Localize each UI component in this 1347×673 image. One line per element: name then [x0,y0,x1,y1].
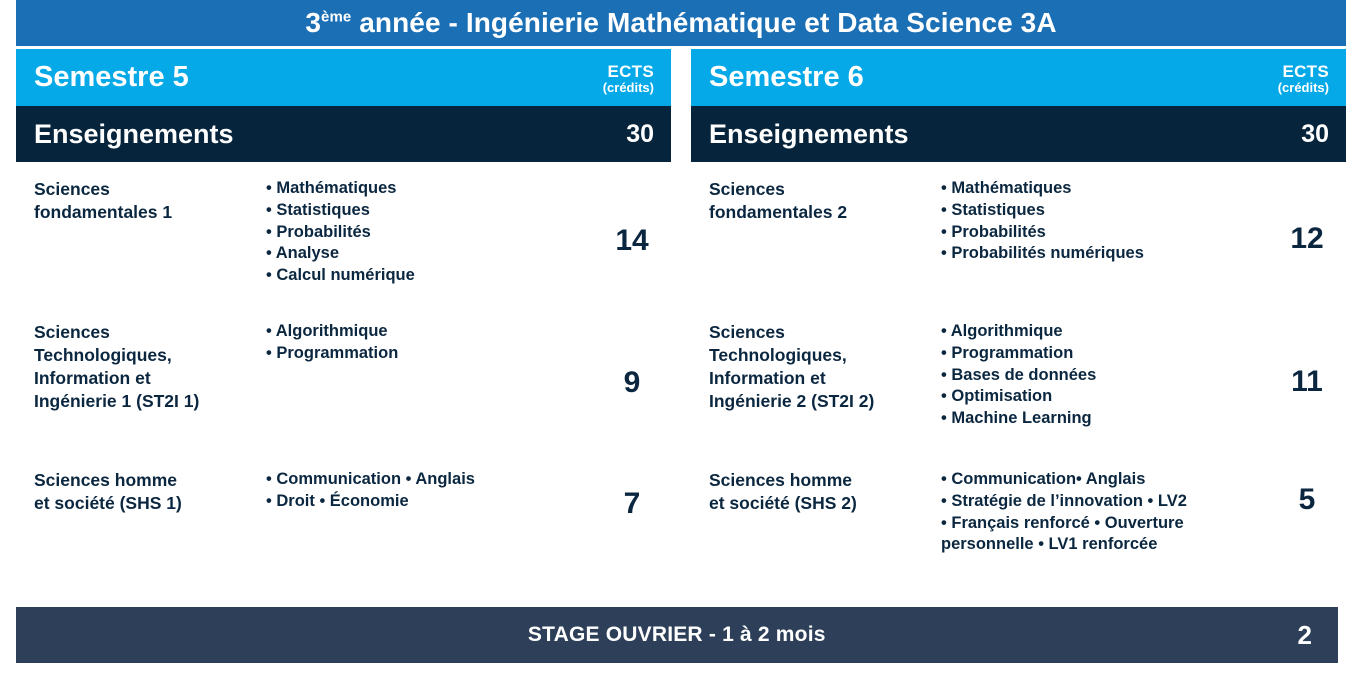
course-block-credits: 11 [1268,321,1346,399]
semester-header-6: Semestre 6 ECTS (crédits) [691,49,1346,106]
semester-column-5: Semestre 5 ECTS (crédits) Enseignements … [16,49,671,578]
course-block: Sciences Technologiques, Information et … [16,305,671,453]
course-block-name: Sciences homme et société (SHS 1) [16,469,266,515]
course-block-credits: 14 [593,178,671,258]
course-block: Sciences homme et société (SHS 2) • Comm… [691,453,1346,578]
course-block-credits: 5 [1268,469,1346,517]
page-title-superscript: ème [321,9,351,26]
internship-label: STAGE OUVRIER - 1 à 2 mois [16,623,1298,647]
teaching-credits-5: 30 [626,120,654,149]
ects-label-6: ECTS [1278,63,1329,81]
page-title-bar: 3ème année - Ingénierie Mathématique et … [16,0,1346,46]
semester-column-6: Semestre 6 ECTS (crédits) Enseignements … [691,49,1346,578]
course-block-name: Sciences Technologiques, Information et … [691,321,941,413]
course-block: Sciences homme et société (SHS 1) • Comm… [16,453,671,578]
teaching-credits-6: 30 [1301,120,1329,149]
teaching-label-6: Enseignements [709,119,909,150]
semester-title-5: Semestre 5 [34,63,189,92]
ects-sublabel-6: (crédits) [1278,81,1329,95]
ects-legend-5: ECTS (crédits) [603,61,654,94]
course-block-items: • Algorithmique • Programmation [266,321,593,365]
course-block: Sciences fondamentales 1 • Mathématiques… [16,162,671,305]
course-block-credits: 12 [1268,178,1346,256]
ects-legend-6: ECTS (crédits) [1278,61,1329,94]
teaching-bar-5: Enseignements 30 [16,106,671,162]
course-block: Sciences fondamentales 2 • Mathématiques… [691,162,1346,305]
course-block-items: • Mathématiques • Statistiques • Probabi… [941,178,1268,265]
course-block-items: • Communication• Anglais • Stratégie de … [941,469,1268,556]
course-block-name: Sciences fondamentales 1 [16,178,266,224]
page-title-rest: année - Ingénierie Mathématique et Data … [351,7,1056,38]
course-block-items: • Algorithmique • Programmation • Bases … [941,321,1268,430]
course-block-items: • Mathématiques • Statistiques • Probabi… [266,178,593,287]
semester-title-6: Semestre 6 [709,63,864,92]
teaching-bar-6: Enseignements 30 [691,106,1346,162]
semesters-container: Semestre 5 ECTS (crédits) Enseignements … [16,49,1346,578]
course-block-items: • Communication • Anglais • Droit • Écon… [266,469,593,513]
internship-bar: STAGE OUVRIER - 1 à 2 mois 2 [16,607,1338,663]
course-block-credits: 7 [593,469,671,521]
course-block-name: Sciences Technologiques, Information et … [16,321,266,413]
internship-credits: 2 [1298,620,1312,651]
course-block-name: Sciences fondamentales 2 [691,178,941,224]
semester-header-5: Semestre 5 ECTS (crédits) [16,49,671,106]
ects-label-5: ECTS [603,63,654,81]
course-block: Sciences Technologiques, Information et … [691,305,1346,453]
course-block-name: Sciences homme et société (SHS 2) [691,469,941,515]
page-title: 3ème année - Ingénierie Mathématique et … [305,7,1056,39]
course-block-credits: 9 [593,321,671,400]
page-title-prefix: 3 [305,7,321,38]
teaching-label-5: Enseignements [34,119,234,150]
curriculum-page: 3ème année - Ingénierie Mathématique et … [0,0,1347,673]
ects-sublabel-5: (crédits) [603,81,654,95]
